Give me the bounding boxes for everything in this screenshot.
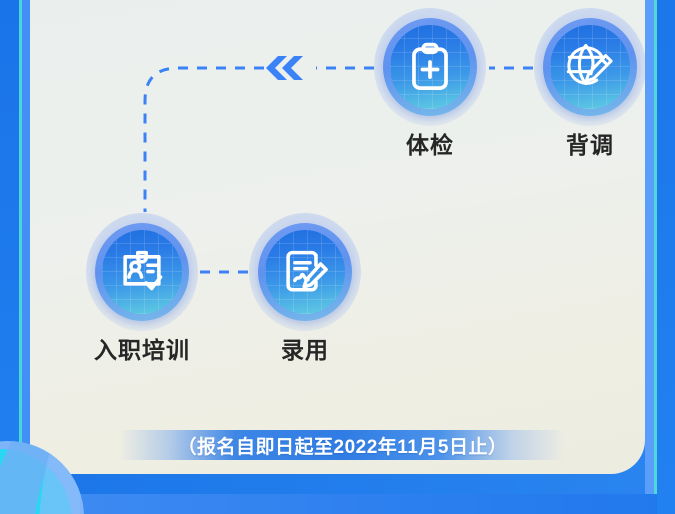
flow-node-tijian[interactable]: 体检 [374, 8, 486, 157]
double-chevron-left-icon [266, 56, 303, 80]
card-bottom-edge [30, 494, 657, 514]
node-disc [102, 230, 182, 314]
flow-node-label: 体检 [374, 134, 486, 157]
node-badge-tijian [374, 8, 486, 126]
node-badge-luyong [249, 213, 361, 331]
id-badge-check-icon [115, 245, 169, 299]
document-signature-icon [278, 245, 332, 299]
flow-node-label: 入职培训 [86, 339, 198, 362]
flow-node-luyong[interactable]: 录用 [249, 213, 361, 362]
poster-canvas: 体检 [0, 0, 675, 514]
content-card: 体检 [30, 0, 645, 474]
flow-node-label: 录用 [249, 339, 361, 362]
node-disc [265, 230, 345, 314]
node-disc [550, 25, 630, 109]
flow-node-ruzhi[interactable]: 入职培训 [86, 213, 198, 362]
connector-tijian-to-ruzhi [145, 68, 264, 212]
frame-left-deep-band [0, 0, 19, 514]
flow-node-beidiao[interactable]: 背调 [534, 8, 645, 157]
flow-node-label: 背调 [534, 134, 645, 157]
node-disc [390, 25, 470, 109]
node-badge-ruzhi [86, 213, 198, 331]
deadline-banner-text: （报名自即日起至2022年11月5日止） [178, 432, 508, 459]
node-badge-beidiao [534, 8, 645, 126]
frame-right-deep-band [657, 0, 675, 514]
frame-right-blue-band [645, 0, 654, 514]
deadline-banner: （报名自即日起至2022年11月5日止） [120, 430, 565, 460]
clipboard-medical-icon [403, 40, 457, 94]
globe-pencil-icon [563, 40, 617, 94]
frame-left-blue-band [22, 0, 30, 514]
